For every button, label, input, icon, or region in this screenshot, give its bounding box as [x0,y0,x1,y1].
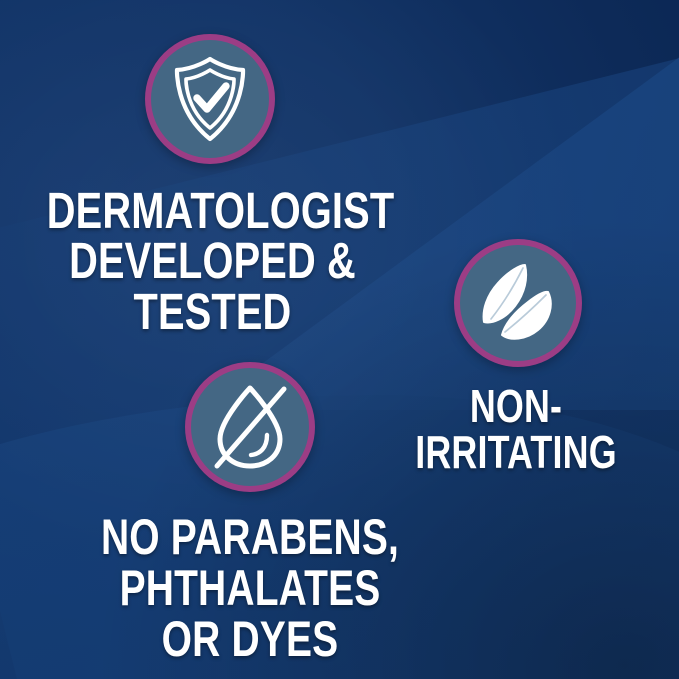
feather-icon [478,262,558,344]
claim-dermatologist: DERMATOLOGIST DEVELOPED & TESTED [47,186,379,337]
feature-badge-dermatologist [145,34,275,164]
shield-check-icon [169,55,251,143]
claim-no-parabens: NO PARABENS, PHTHALATES OR DYES [98,512,402,665]
claim-non-irritating: NON-IRRITATING [376,384,657,475]
feature-badge-no-parabens [185,362,315,492]
droplet-slash-icon [208,382,292,472]
product-claims-graphic: DERMATOLOGIST DEVELOPED & TESTED NON-IRR… [0,0,679,679]
feature-badge-non-irritating [454,239,582,367]
